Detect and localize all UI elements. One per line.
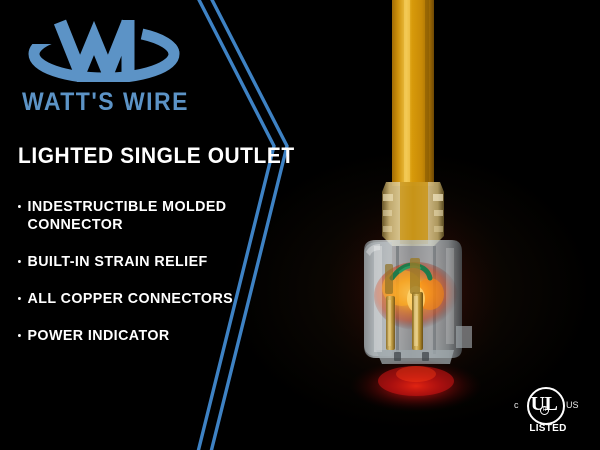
list-item: ALL COPPER CONNECTORS bbox=[18, 290, 237, 308]
ul-monogram: UL bbox=[527, 387, 561, 421]
list-item: INDESTRUCTIBLE MOLDED CONNECTOR bbox=[18, 198, 237, 234]
list-item: POWER INDICATOR bbox=[18, 327, 237, 345]
watts-wire-w-swoosh-logo bbox=[24, 14, 184, 82]
list-item: BUILT-IN STRAIN RELIEF bbox=[18, 253, 237, 271]
brand-wordmark: WATT'S WIRE bbox=[22, 88, 188, 117]
ul-listed-mark: c UL R US LISTED bbox=[506, 382, 590, 438]
ul-canada-prefix: c bbox=[514, 400, 519, 410]
page-title: LIGHTED SINGLE OUTLET bbox=[18, 143, 295, 169]
product-image-lighted-outlet-connector bbox=[330, 0, 500, 436]
product-marketing-banner: WATT'S WIRE LIGHTED SINGLE OUTLET INDEST… bbox=[0, 0, 600, 450]
ul-us-suffix: US bbox=[566, 400, 579, 410]
brand-logo: WATT'S WIRE bbox=[18, 14, 208, 124]
feature-list: INDESTRUCTIBLE MOLDED CONNECTOR BUILT-IN… bbox=[18, 198, 248, 364]
ul-listed-caption: LISTED bbox=[506, 423, 590, 434]
registered-trademark-icon: R bbox=[540, 406, 549, 415]
